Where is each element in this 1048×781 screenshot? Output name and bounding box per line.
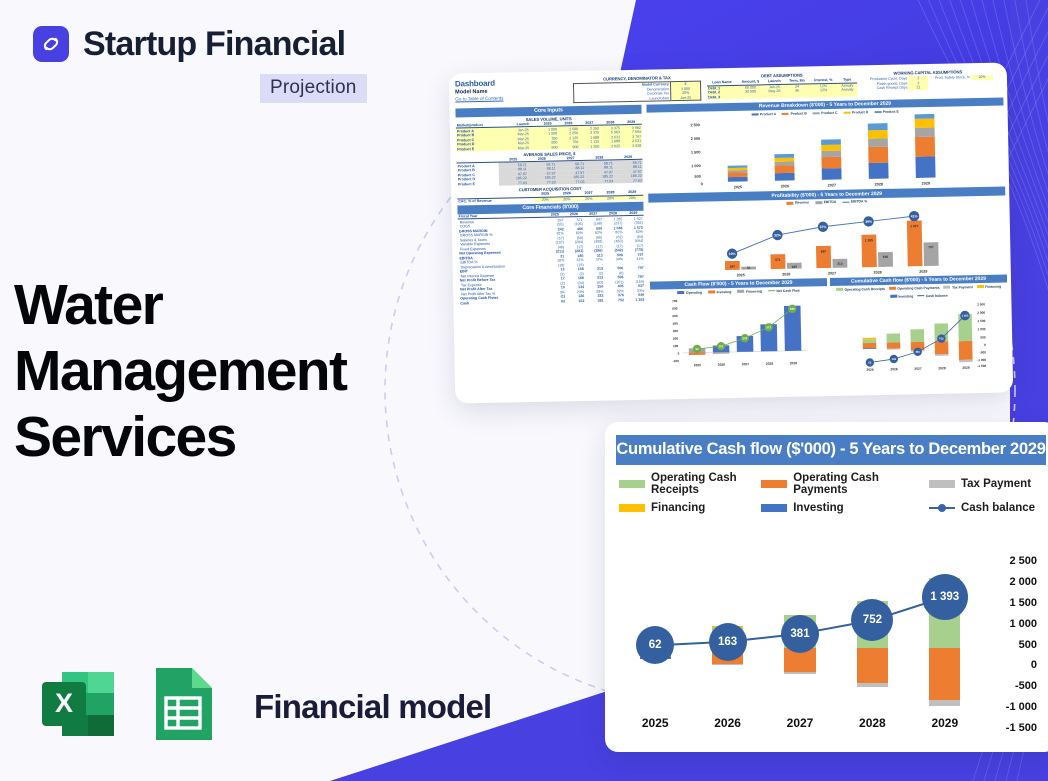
brand-badge: Projection — [260, 74, 367, 103]
y-axis: 2 500 2 000 1 500 1 000 500 0 -500 -1 00… — [985, 557, 1039, 732]
y-tick: 0 — [1031, 659, 1037, 671]
legend-swatch-payments — [761, 480, 787, 488]
svg-text:2 500: 2 500 — [977, 303, 985, 307]
svg-text:2027: 2027 — [828, 271, 836, 275]
legend-swatch-cash-balance — [929, 504, 955, 512]
svg-text:2028: 2028 — [938, 366, 946, 370]
svg-text:500: 500 — [980, 336, 986, 340]
svg-text:2026: 2026 — [718, 363, 726, 367]
svg-text:-100: -100 — [673, 359, 680, 363]
svg-text:797: 797 — [928, 245, 934, 249]
legend-swatch-financing — [619, 504, 645, 512]
x-tick: 2026 — [691, 716, 763, 730]
svg-text:640: 640 — [790, 307, 795, 311]
legend-swatch-tax — [929, 480, 955, 488]
svg-text:297: 297 — [730, 264, 736, 268]
data-point-label: 62 — [636, 626, 674, 664]
mini-chart-profitability[interactable]: Profitability ($'000) - 5 Years to Decem… — [648, 187, 1007, 280]
svg-text:2029: 2029 — [790, 361, 798, 365]
svg-text:400: 400 — [673, 322, 679, 326]
toc-link[interactable]: Go to Table of Contents — [455, 94, 567, 101]
bar-segment — [857, 648, 888, 683]
chart-title: Cumulative Cash flow ($'000) - 5 Years t… — [616, 435, 1046, 465]
svg-text:2 500: 2 500 — [690, 124, 700, 128]
svg-text:2027: 2027 — [914, 367, 922, 371]
chart-plot-area: 2 500 2 000 1 500 1 000 500 0 -500 -1 00… — [619, 557, 1039, 732]
svg-text:2028: 2028 — [875, 183, 883, 187]
y-tick: 1 500 — [1009, 597, 1037, 609]
mini-chart-svg: 10% 32% 37% 39% 41% 297 571 897 1 285 — [649, 202, 1007, 279]
svg-text:0: 0 — [984, 343, 986, 347]
svg-text:2029: 2029 — [962, 366, 970, 370]
svg-text:1 285: 1 285 — [865, 238, 873, 242]
svg-text:371: 371 — [766, 325, 771, 329]
cumulative-cash-flow-card[interactable]: Cumulative Cash flow ($'000) - 5 Years t… — [605, 422, 1048, 752]
data-point-label: 752 — [851, 599, 893, 641]
brand-name: Startup Financial — [83, 27, 345, 61]
y-tick: 1 000 — [1009, 618, 1037, 630]
svg-text:41%: 41% — [911, 214, 918, 218]
svg-text:10%: 10% — [729, 252, 736, 256]
y-tick: 2 000 — [1009, 576, 1037, 588]
svg-text:2025: 2025 — [737, 273, 745, 277]
bar-segment — [929, 648, 960, 700]
svg-text:2026: 2026 — [782, 272, 790, 276]
svg-text:2025: 2025 — [734, 186, 742, 190]
legend-swatch-receipts — [619, 480, 645, 488]
svg-text:101: 101 — [719, 344, 724, 348]
y-tick: -500 — [1015, 680, 1037, 692]
legend-item: Investing — [761, 502, 929, 514]
bar-segment — [712, 664, 743, 665]
legend-swatch-investing — [761, 504, 787, 512]
bar-segment — [784, 672, 815, 674]
legend-item: Financing — [619, 502, 761, 514]
svg-text:700: 700 — [672, 299, 678, 303]
mini-chart-revenue-breakdown[interactable]: Revenue Breakdown ($'000) - 5 Years to D… — [646, 98, 1005, 193]
svg-text:2029: 2029 — [919, 269, 927, 273]
legend-item: Tax Payment — [929, 472, 1043, 496]
svg-text:32%: 32% — [774, 233, 781, 237]
currency-assumptions-table: Model Currency$ Denomination1 000 Corpor… — [573, 81, 701, 104]
svg-text:1 927: 1 927 — [910, 224, 918, 228]
svg-text:2028: 2028 — [874, 270, 882, 274]
svg-text:2025: 2025 — [866, 368, 874, 372]
working-capital-table: Production Cycle, Days2Prod. Safety Stoc… — [863, 75, 993, 91]
debt-assumptions-table: Loan Name Amount, $ Launch Term, Mo Inte… — [707, 77, 857, 99]
google-sheets-icon — [144, 660, 220, 753]
svg-text:897: 897 — [821, 249, 827, 253]
page-title: Water Management Services — [14, 272, 434, 470]
bar-segment — [857, 683, 888, 687]
svg-text:600: 600 — [672, 307, 678, 311]
svg-text:313: 313 — [837, 261, 843, 265]
legend-item: Cash balance — [929, 502, 1043, 514]
mini-chart-cumulative-cash-flow[interactable]: Cumulative Cash flow ($'000) - 5 Years t… — [830, 274, 1009, 373]
svg-text:-500: -500 — [980, 351, 987, 355]
svg-text:2 000: 2 000 — [691, 137, 701, 141]
svg-text:506: 506 — [883, 255, 889, 259]
mini-chart-svg: 2 5002 0001 5001 000 5000-500-1 000-1 50… — [830, 298, 1008, 374]
svg-text:X: X — [55, 688, 73, 718]
x-tick: 2028 — [836, 716, 908, 730]
average-price-table: 20252026202720282029 Product A58.7158.71… — [456, 155, 643, 187]
svg-text:100: 100 — [673, 344, 679, 348]
svg-text:500: 500 — [694, 175, 700, 179]
x-tick: 2027 — [764, 716, 836, 730]
data-point-label: 163 — [709, 623, 747, 661]
svg-text:185: 185 — [792, 265, 798, 269]
legend-item: Operating Cash Receipts — [619, 472, 761, 496]
excel-file-icon: X — [34, 660, 122, 753]
y-tick: 500 — [1019, 639, 1037, 651]
format-label: Financial model — [254, 688, 491, 726]
chart-legend: Operating Cash Receipts Operating Cash P… — [619, 472, 1043, 514]
slide-canvas: Startup Financial Projection Water Manag… — [0, 0, 1048, 781]
mini-chart-svg: 2 5002 0001 500 1 0005000 — [647, 113, 1005, 192]
svg-text:1 000: 1 000 — [691, 164, 701, 168]
svg-text:2026: 2026 — [890, 367, 898, 371]
bar-segment — [929, 700, 960, 706]
svg-text:2027: 2027 — [828, 184, 836, 188]
svg-text:2027: 2027 — [742, 362, 750, 366]
svg-text:-1 000: -1 000 — [977, 358, 986, 362]
data-point-label: 1 393 — [922, 574, 968, 620]
core-financials-table: Fiscal Year20252026202720282029Revenue29… — [458, 211, 646, 306]
legend-item: Operating Cash Payments — [761, 472, 929, 496]
y-tick: -1 000 — [1006, 701, 1037, 713]
svg-text:2025: 2025 — [694, 363, 702, 367]
svg-text:500: 500 — [672, 314, 678, 318]
dashboard-preview-card[interactable]: Dashboard Model Name Go to Table of Cont… — [449, 62, 1014, 403]
svg-text:218: 218 — [742, 336, 747, 340]
svg-text:39%: 39% — [865, 219, 872, 223]
y-tick: -1 500 — [1006, 722, 1037, 734]
format-badges: X Financial model — [34, 660, 491, 753]
svg-text:2 000: 2 000 — [977, 311, 985, 315]
svg-text:163: 163 — [892, 357, 897, 361]
mini-chart-cash-flow[interactable]: Cash Flow ($'000) - 5 Years to December … — [650, 278, 829, 377]
svg-text:1 500: 1 500 — [691, 151, 701, 155]
svg-text:300: 300 — [673, 329, 679, 333]
svg-text:0: 0 — [701, 183, 703, 187]
svg-text:381: 381 — [915, 350, 920, 354]
svg-text:200: 200 — [673, 337, 679, 341]
mini-chart-svg: 700600500400 3002001000-100 — [650, 293, 828, 369]
svg-text:1 500: 1 500 — [977, 319, 985, 323]
sales-volume-table: Market/product Launch 2025 2026 2027 202… — [456, 120, 643, 152]
x-tick: 2029 — [909, 716, 981, 730]
svg-text:1 393: 1 393 — [962, 314, 969, 318]
brand-swirl-icon — [33, 26, 69, 62]
svg-text:571: 571 — [775, 258, 781, 262]
svg-text:2028: 2028 — [766, 362, 774, 366]
svg-text:0: 0 — [678, 352, 680, 356]
x-tick: 2025 — [619, 716, 691, 730]
brand-lockup: Startup Financial — [33, 26, 345, 62]
svg-text:2029: 2029 — [922, 182, 930, 186]
chart-bars: 621633817521 393 — [619, 557, 981, 702]
svg-text:2026: 2026 — [781, 185, 789, 189]
y-tick: 2 500 — [1009, 555, 1037, 567]
svg-text:-1 500: -1 500 — [977, 364, 986, 368]
dashboard-sheet: Dashboard Model Name Go to Table of Cont… — [449, 62, 1014, 403]
svg-text:752: 752 — [939, 337, 944, 341]
svg-text:1 000: 1 000 — [978, 327, 986, 331]
svg-text:62: 62 — [695, 347, 699, 351]
svg-text:31: 31 — [747, 266, 751, 270]
data-point-label: 381 — [781, 615, 819, 653]
svg-text:37%: 37% — [820, 225, 827, 229]
